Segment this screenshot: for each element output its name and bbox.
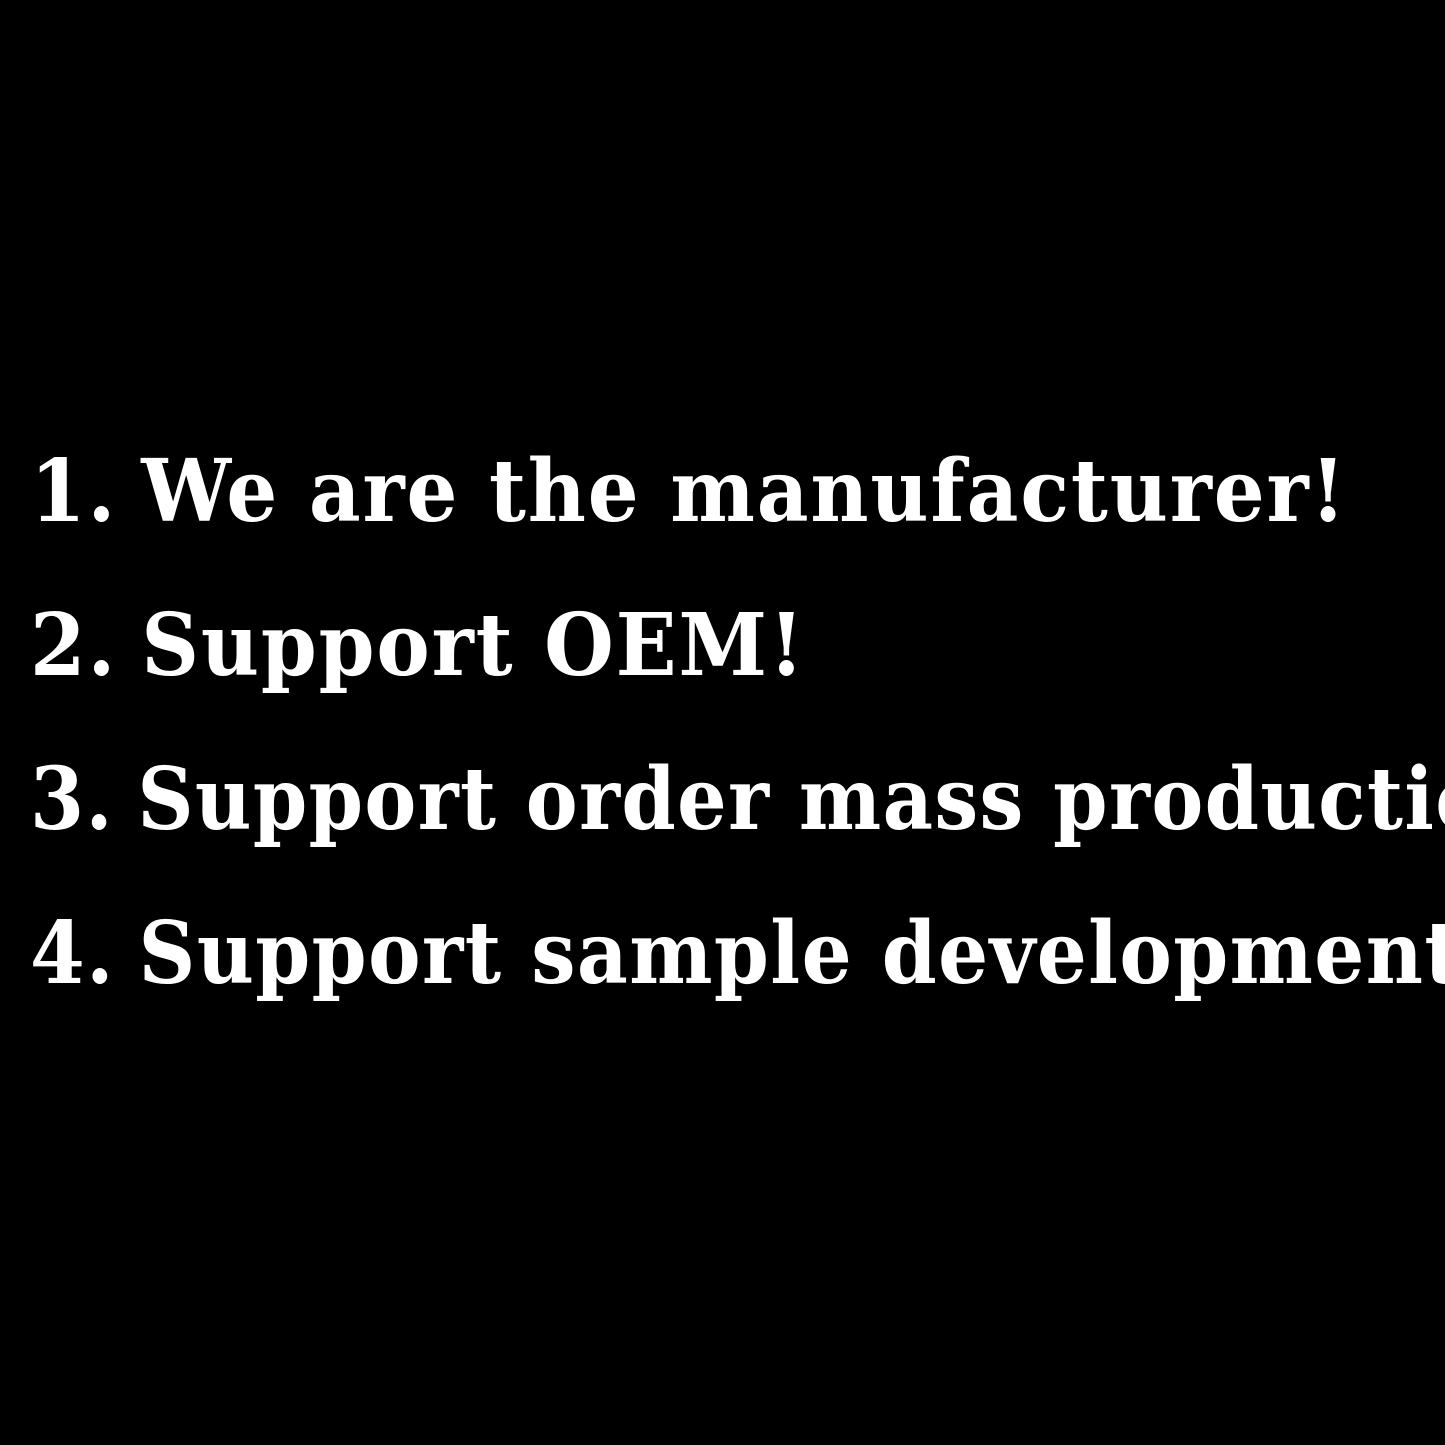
list-item: 1.We are the manufacturer! [0,415,1445,569]
list-item-number: 3. [30,749,114,850]
list-item-number: 2. [30,595,117,696]
list-item-number: 4. [30,903,115,1004]
capability-list: 1.We are the manufacturer! 2.Support OEM… [0,0,1445,1445]
list-item-content: 4.Support sample development! [30,877,1445,1031]
list-item-content: 3.Support order mass production! [30,723,1445,877]
list-item: 4.Support sample development! [0,877,1445,1031]
poster-canvas: 1.We are the manufacturer! 2.Support OEM… [0,0,1445,1445]
list-item: 3.Support order mass production! [0,723,1445,877]
list-item-label: Support OEM! [141,595,806,696]
list-item-number: 1. [30,441,117,542]
list-item-content: 1.We are the manufacturer! [30,415,1347,569]
list-item-label: We are the manufacturer! [141,441,1347,542]
list-item: 2.Support OEM! [0,569,1445,723]
list-item-label: Support sample development! [138,903,1445,1004]
list-item-content: 2.Support OEM! [30,569,806,723]
list-item-label: Support order mass production! [137,749,1445,850]
